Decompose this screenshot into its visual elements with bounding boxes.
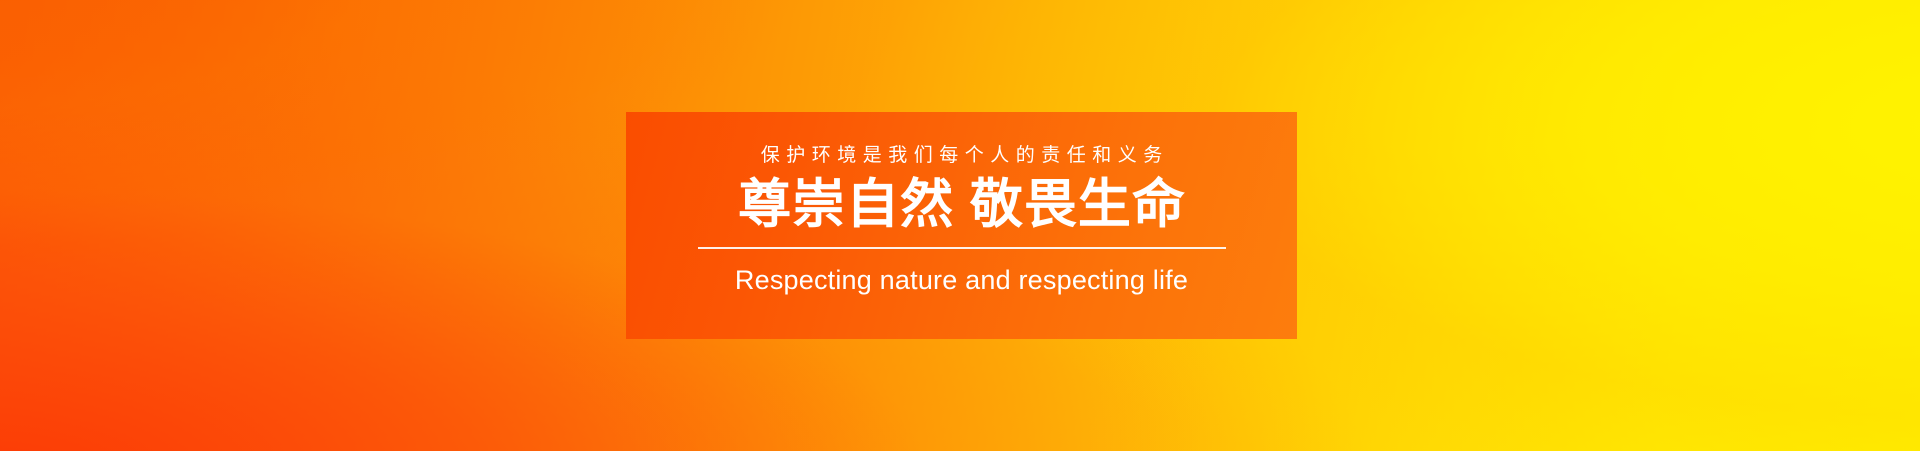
slogan-panel: 保护环境是我们每个人的责任和义务 尊崇自然 敬畏生命 Respecting na…: [626, 112, 1297, 339]
chinese-subtitle: 保护环境是我们每个人的责任和义务: [754, 144, 1169, 168]
chinese-headline: 尊崇自然 敬畏生命: [737, 174, 1186, 236]
horizontal-divider: [698, 247, 1226, 249]
english-tagline: Respecting nature and respecting life: [735, 263, 1188, 297]
environment-slogan-banner: 保护环境是我们每个人的责任和义务 尊崇自然 敬畏生命 Respecting na…: [0, 0, 1920, 451]
